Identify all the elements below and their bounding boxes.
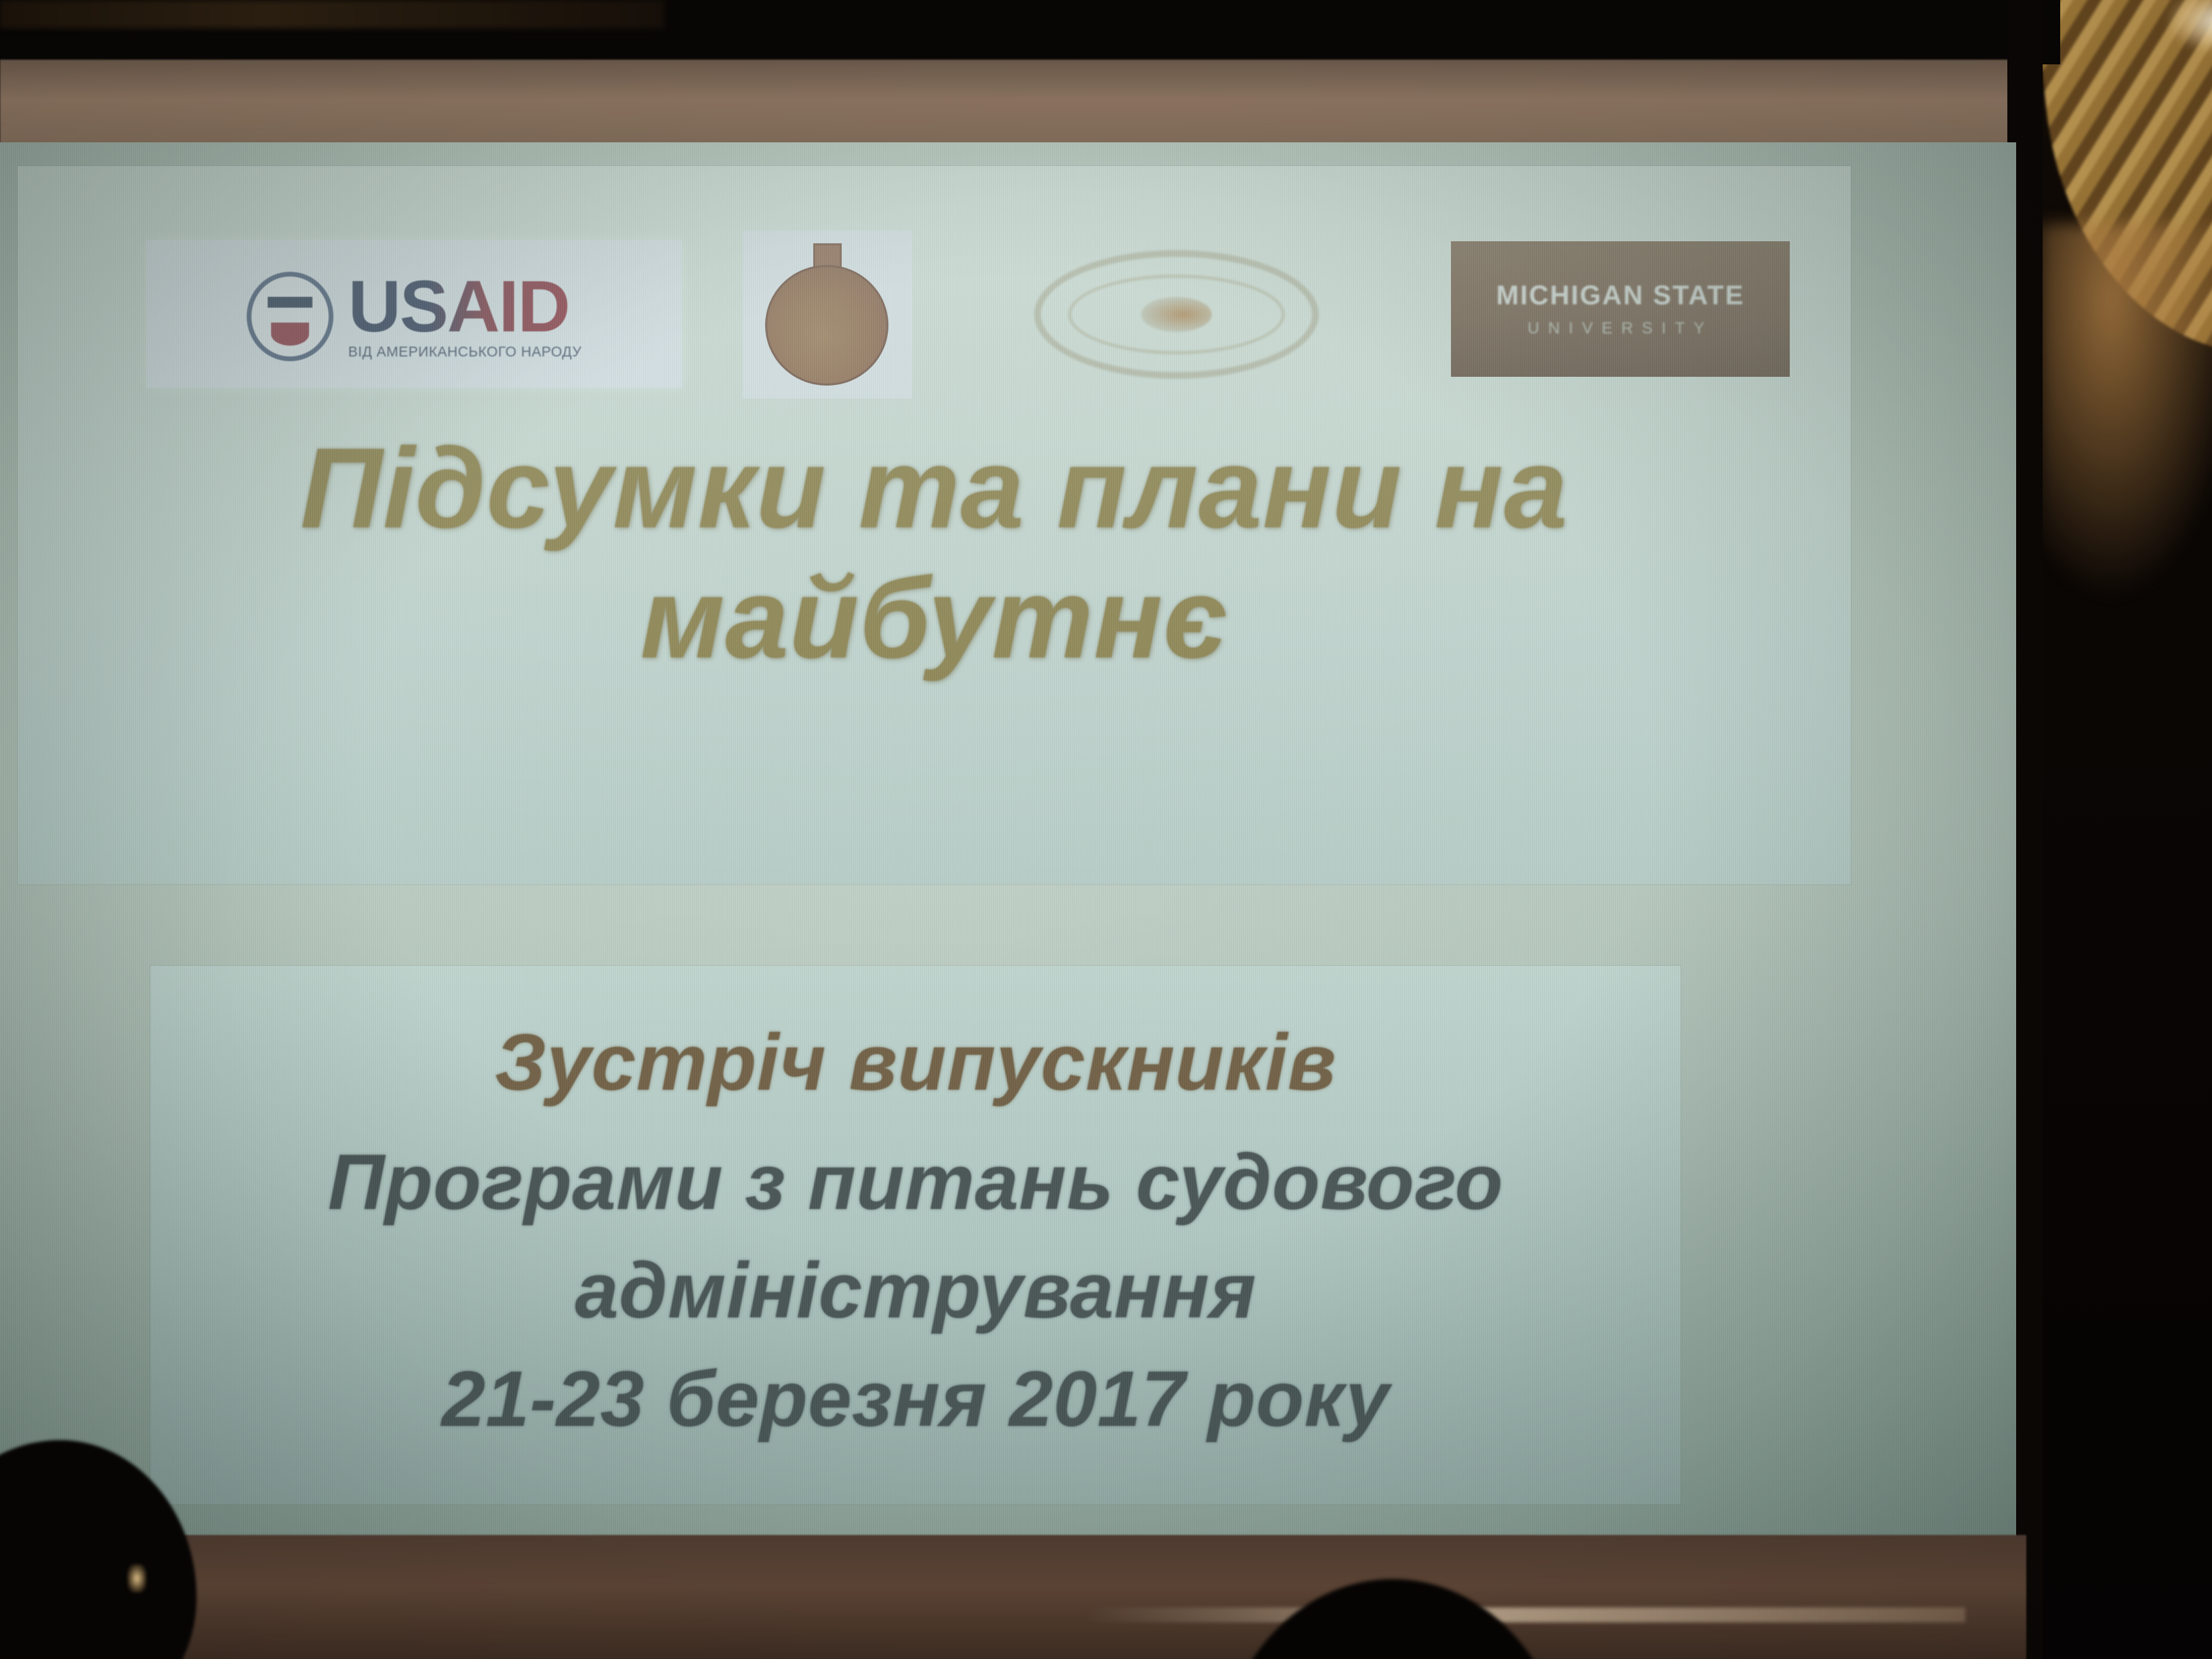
slide-title-line-1: Підсумки та плани на xyxy=(45,424,1824,554)
top-ceiling-reflection xyxy=(0,0,664,28)
projection-screen: USAID ВІД АМЕРИКАНСЬКОГО НАРОДУ MICH xyxy=(0,142,2016,1542)
screen-top-frame xyxy=(0,60,2040,148)
usaid-wordmark: USAID xyxy=(348,272,569,340)
ceiling-light-highlight xyxy=(2169,0,2212,52)
event-program-line-1: Програми з питань судового xyxy=(184,1128,1647,1236)
court-oval-emblem-icon xyxy=(1034,250,1319,379)
bronze-seal-logo xyxy=(743,230,912,398)
audience-head-left-highlight xyxy=(127,1564,146,1593)
bottom-edge-highlight xyxy=(1084,1607,1965,1622)
michigan-state-university-logo: MICHIGAN STATE UNIVERSITY xyxy=(1451,241,1790,377)
usaid-logo: USAID ВІД АМЕРИКАНСЬКОГО НАРОДУ xyxy=(146,240,682,388)
slide-title-line-2: майбутнє xyxy=(45,554,1824,684)
msu-line-1: MICHIGAN STATE xyxy=(1496,281,1745,311)
usaid-tagline: ВІД АМЕРИКАНСЬКОГО НАРОДУ xyxy=(348,344,581,361)
ceiling-lamp-glow xyxy=(2040,224,2212,603)
event-details-panel: Зустріч випускників Програми з питань су… xyxy=(150,966,1681,1504)
event-date: 21-23 березня 2017 року xyxy=(184,1345,1647,1453)
event-program-line-2: адміністрування xyxy=(184,1236,1647,1345)
court-oval-emblem-logo xyxy=(1014,236,1339,393)
screen-bottom-frame xyxy=(0,1535,2026,1659)
usaid-seal-icon xyxy=(247,272,333,361)
title-panel: USAID ВІД АМЕРИКАНСЬКОГО НАРОДУ MICH xyxy=(18,166,1851,884)
bronze-seal-icon xyxy=(761,243,894,386)
msu-line-2: UNIVERSITY xyxy=(1528,319,1713,338)
seal-disc xyxy=(765,265,888,386)
logo-row: USAID ВІД АМЕРИКАНСЬКОГО НАРОДУ MICH xyxy=(146,230,1705,400)
photo-frame: USAID ВІД АМЕРИКАНСЬКОГО НАРОДУ MICH xyxy=(0,0,2212,1659)
event-headline: Зустріч випускників xyxy=(184,1008,1647,1118)
slide-title: Підсумки та плани на майбутнє xyxy=(45,424,1824,683)
